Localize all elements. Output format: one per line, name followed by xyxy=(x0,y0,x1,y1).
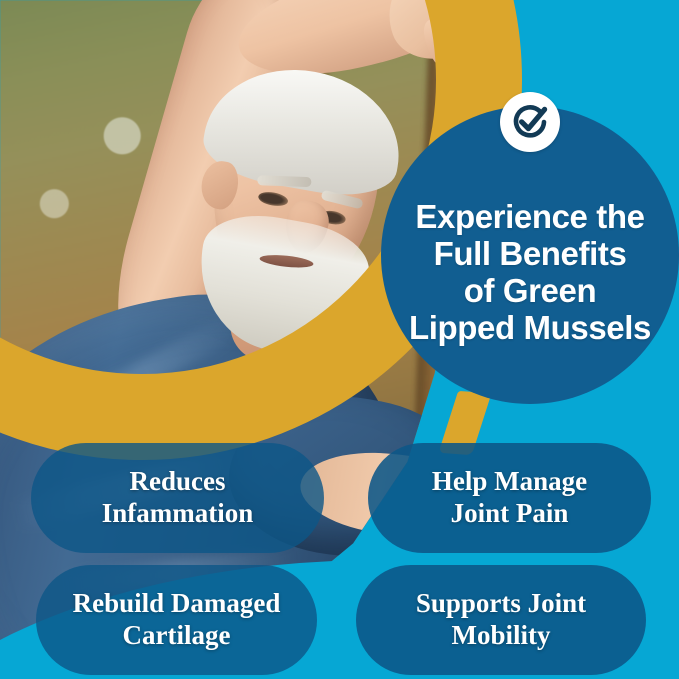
headline-line-2: Full Benefits xyxy=(409,236,651,273)
benefit-line-2: Joint Pain xyxy=(432,498,587,530)
benefit-pill-text: Rebuild Damaged Cartilage xyxy=(73,588,281,652)
benefit-line-2: Mobility xyxy=(416,620,586,652)
check-circle-icon xyxy=(500,92,560,152)
benefit-line-1: Supports Joint xyxy=(416,588,586,620)
benefit-line-2: Cartilage xyxy=(73,620,281,652)
benefit-pill-text: Reduces Infammation xyxy=(102,466,254,530)
benefit-pill-help-manage-joint-pain[interactable]: Help Manage Joint Pain xyxy=(368,443,651,553)
benefit-line-1: Help Manage xyxy=(432,466,587,498)
headline-text: Experience the Full Benefits of Green Li… xyxy=(403,199,657,347)
benefit-pill-rebuild-damaged-cartilage[interactable]: Rebuild Damaged Cartilage xyxy=(36,565,317,675)
benefit-line-2: Infammation xyxy=(102,498,254,530)
benefit-pill-text: Supports Joint Mobility xyxy=(416,588,586,652)
benefit-line-1: Reduces xyxy=(102,466,254,498)
benefit-pill-reduces-inflammation[interactable]: Reduces Infammation xyxy=(31,443,324,553)
benefits-poster: Experience the Full Benefits of Green Li… xyxy=(0,0,679,679)
benefit-line-1: Rebuild Damaged xyxy=(73,588,281,620)
headline-line-3: of Green xyxy=(409,273,651,310)
headline-line-1: Experience the xyxy=(409,199,651,236)
benefit-pill-text: Help Manage Joint Pain xyxy=(432,466,587,530)
headline-line-4: Lipped Mussels xyxy=(409,310,651,347)
benefit-pill-supports-joint-mobility[interactable]: Supports Joint Mobility xyxy=(356,565,646,675)
